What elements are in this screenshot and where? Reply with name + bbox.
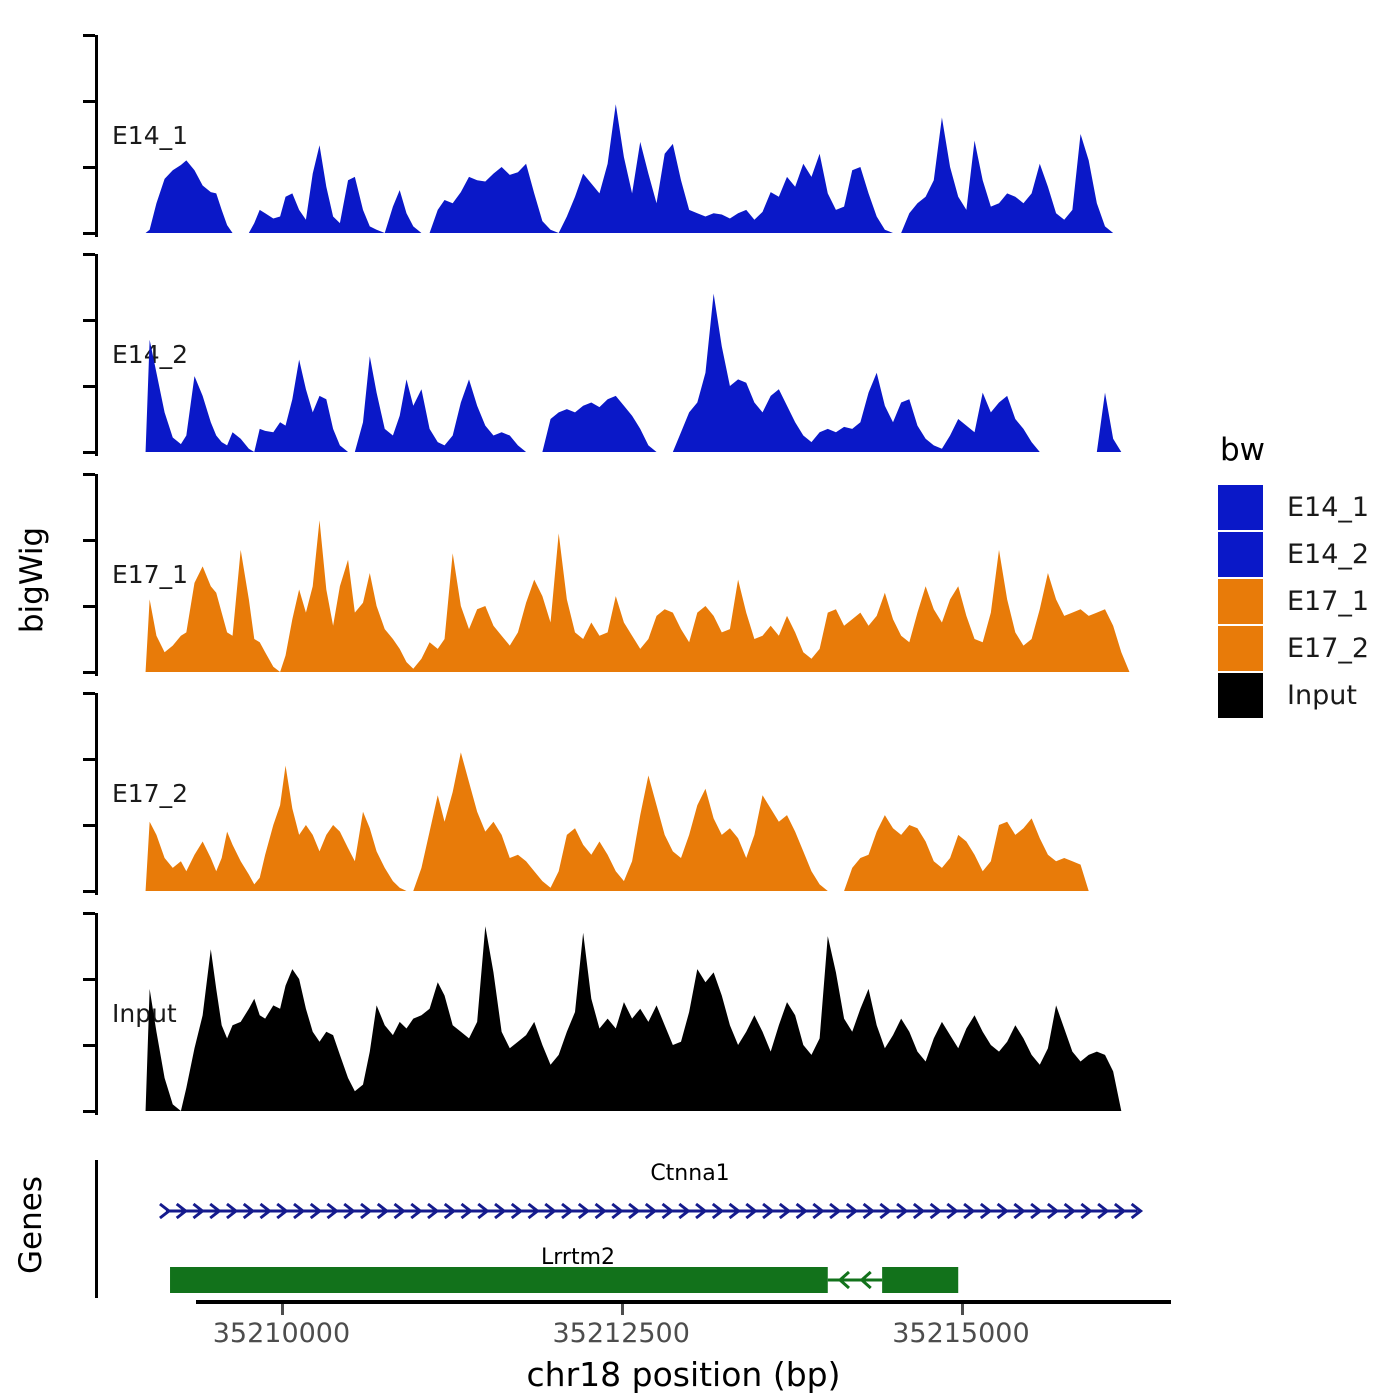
y-axis-tick — [83, 451, 95, 454]
y-axis-tick — [83, 605, 95, 608]
y-axis-tick — [83, 473, 95, 476]
legend-swatch — [1218, 579, 1263, 624]
legend-items: E14_1E14_2E17_1E17_2Input — [1218, 484, 1393, 719]
legend: bw E14_1E14_2E17_1E17_2Input — [1218, 432, 1393, 719]
legend-swatch — [1218, 673, 1263, 718]
y-axis-tick — [83, 824, 95, 827]
y-axis-tick — [83, 671, 95, 674]
y-axis-tick — [83, 978, 95, 981]
y-axis-tick — [83, 912, 95, 915]
legend-label: E17_2 — [1287, 633, 1369, 664]
gene-label-lrrtm2: Lrrtm2 — [541, 1245, 615, 1270]
track-area-e14_2 — [98, 254, 1158, 452]
x-axis-tick — [281, 1304, 284, 1315]
y-axis-tick — [83, 253, 95, 256]
y-axis-tick — [83, 692, 95, 695]
track-panel-e14_1: 3210E14_1 — [0, 35, 1160, 233]
x-axis-line — [196, 1300, 1171, 1304]
x-axis-tick-label: 35215000 — [892, 1318, 1029, 1349]
legend-item-e17_2[interactable]: E17_2 — [1218, 625, 1393, 672]
y-axis-tick — [83, 166, 95, 169]
legend-label: Input — [1287, 680, 1357, 711]
track-panel-e17_2: 3210E17_2 — [0, 693, 1160, 891]
gene-label-ctnna1: Ctnna1 — [650, 1161, 729, 1186]
legend-item-e17_1[interactable]: E17_1 — [1218, 578, 1393, 625]
legend-item-input[interactable]: Input — [1218, 672, 1393, 719]
legend-label: E14_1 — [1287, 492, 1369, 523]
x-axis-title: chr18 position (bp) — [196, 1355, 1171, 1394]
legend-swatch — [1218, 532, 1263, 577]
genes-track-svg — [98, 1160, 1168, 1300]
x-axis-tick-label: 35210000 — [213, 1318, 350, 1349]
legend-label: E17_1 — [1287, 586, 1369, 617]
legend-swatch — [1218, 626, 1263, 671]
track-panel-e17_1: 3210E17_1 — [0, 474, 1160, 672]
lrrtm2-exon-1 — [170, 1267, 828, 1293]
track-area-e14_1 — [98, 35, 1158, 233]
legend-item-e14_1[interactable]: E14_1 — [1218, 484, 1393, 531]
y-axis-tick — [83, 232, 95, 235]
x-axis-tick — [961, 1304, 964, 1315]
legend-label: E14_2 — [1287, 539, 1369, 570]
y-axis-tick — [83, 890, 95, 893]
y-axis-tick — [83, 319, 95, 322]
lrrtm2-exon-2 — [882, 1267, 958, 1293]
legend-title: bw — [1220, 432, 1393, 468]
y-axis-tick — [83, 34, 95, 37]
legend-swatch — [1218, 485, 1263, 530]
x-axis-tick — [621, 1304, 624, 1315]
track-panel-e14_2: 3210E14_2 — [0, 254, 1160, 452]
y-axis-tick — [83, 385, 95, 388]
track-panel-input: 3210Input — [0, 913, 1160, 1111]
y-axis-tick — [83, 1044, 95, 1047]
y-axis-tick — [83, 539, 95, 542]
track-area-e17_2 — [98, 693, 1158, 891]
x-axis-tick-label: 35212500 — [552, 1318, 689, 1349]
track-area-e17_1 — [98, 474, 1158, 672]
y-axis-tick — [83, 1110, 95, 1113]
legend-item-e14_2[interactable]: E14_2 — [1218, 531, 1393, 578]
y-axis-tick — [83, 758, 95, 761]
genes-panel: Ctnna1 Lrrtm2 — [0, 1160, 1200, 1300]
y-axis-tick — [83, 100, 95, 103]
track-area-input — [98, 913, 1158, 1111]
